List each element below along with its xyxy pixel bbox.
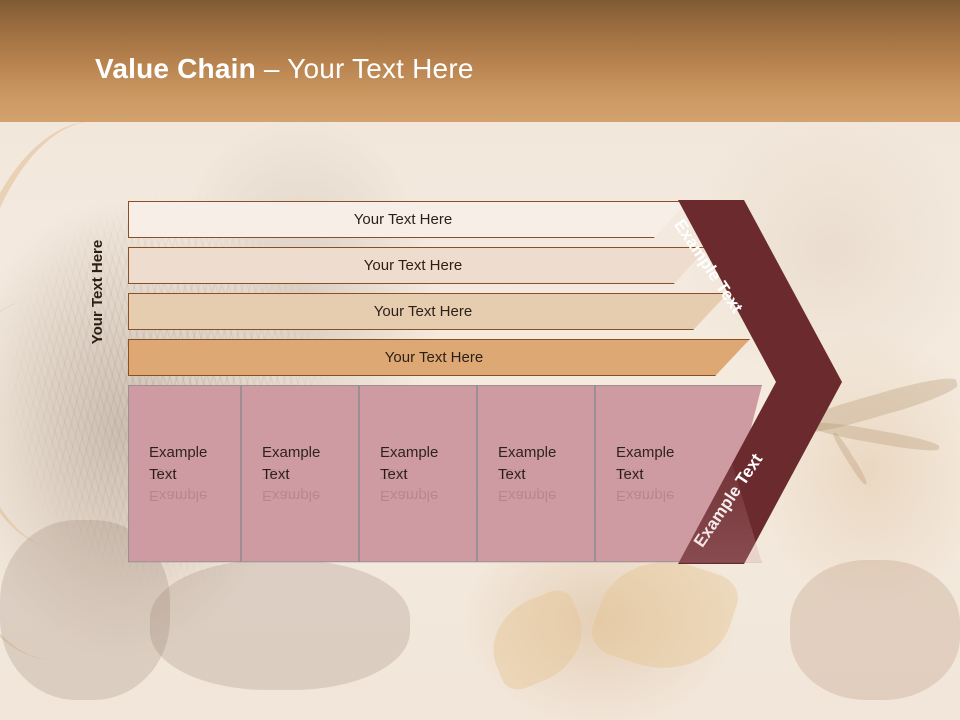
chevron-arrow[interactable]: Example Text Example Text [672, 196, 844, 568]
value-chain-bar-2-label: Your Text Here [364, 257, 462, 274]
value-chain-box-3-line1: Example [380, 444, 438, 461]
value-chain-bar-1-label: Your Text Here [354, 211, 452, 228]
value-chain-box-4-line2: Text [498, 466, 526, 483]
value-chain-box-4-label: ExampleText [498, 442, 584, 486]
value-chain-box-1-line1: Example [149, 444, 207, 461]
value-chain-box-2[interactable]: ExampleText [241, 385, 359, 562]
value-chain-box-2-line2: Text [262, 466, 290, 483]
value-chain-bar-4-label: Your Text Here [385, 349, 483, 366]
value-chain-box-3[interactable]: ExampleText [359, 385, 477, 562]
value-chain-box-2-line1: Example [262, 444, 320, 461]
value-chain-box-1-line2: Text [149, 466, 177, 483]
value-chain-box-5-line2: Text [616, 466, 644, 483]
value-chain-bar-4[interactable]: Your Text Here [128, 339, 750, 376]
value-chain-box-3-line2: Text [380, 466, 408, 483]
value-chain-box-1[interactable]: ExampleText [128, 385, 241, 562]
value-chain-box-1-label: ExampleText [149, 442, 235, 486]
value-chain-bar-1[interactable]: Your Text Here [128, 201, 688, 238]
value-chain-box-3-label: ExampleText [380, 442, 466, 486]
value-chain-box-5-line1: Example [616, 444, 674, 461]
value-chain-box-4[interactable]: ExampleText [477, 385, 595, 562]
slide-canvas: Value Chain – Your Text Here Your Text H… [0, 0, 960, 720]
value-chain-diagram: Your Text Here Your Text Here Your Text … [0, 0, 960, 720]
value-chain-bar-3-label: Your Text Here [374, 303, 472, 320]
value-chain-bar-2[interactable]: Your Text Here [128, 247, 708, 284]
value-chain-box-2-label: ExampleText [262, 442, 348, 486]
value-chain-box-4-line1: Example [498, 444, 556, 461]
vertical-axis-label: Your Text Here [87, 222, 109, 362]
value-chain-bar-3[interactable]: Your Text Here [128, 293, 728, 330]
